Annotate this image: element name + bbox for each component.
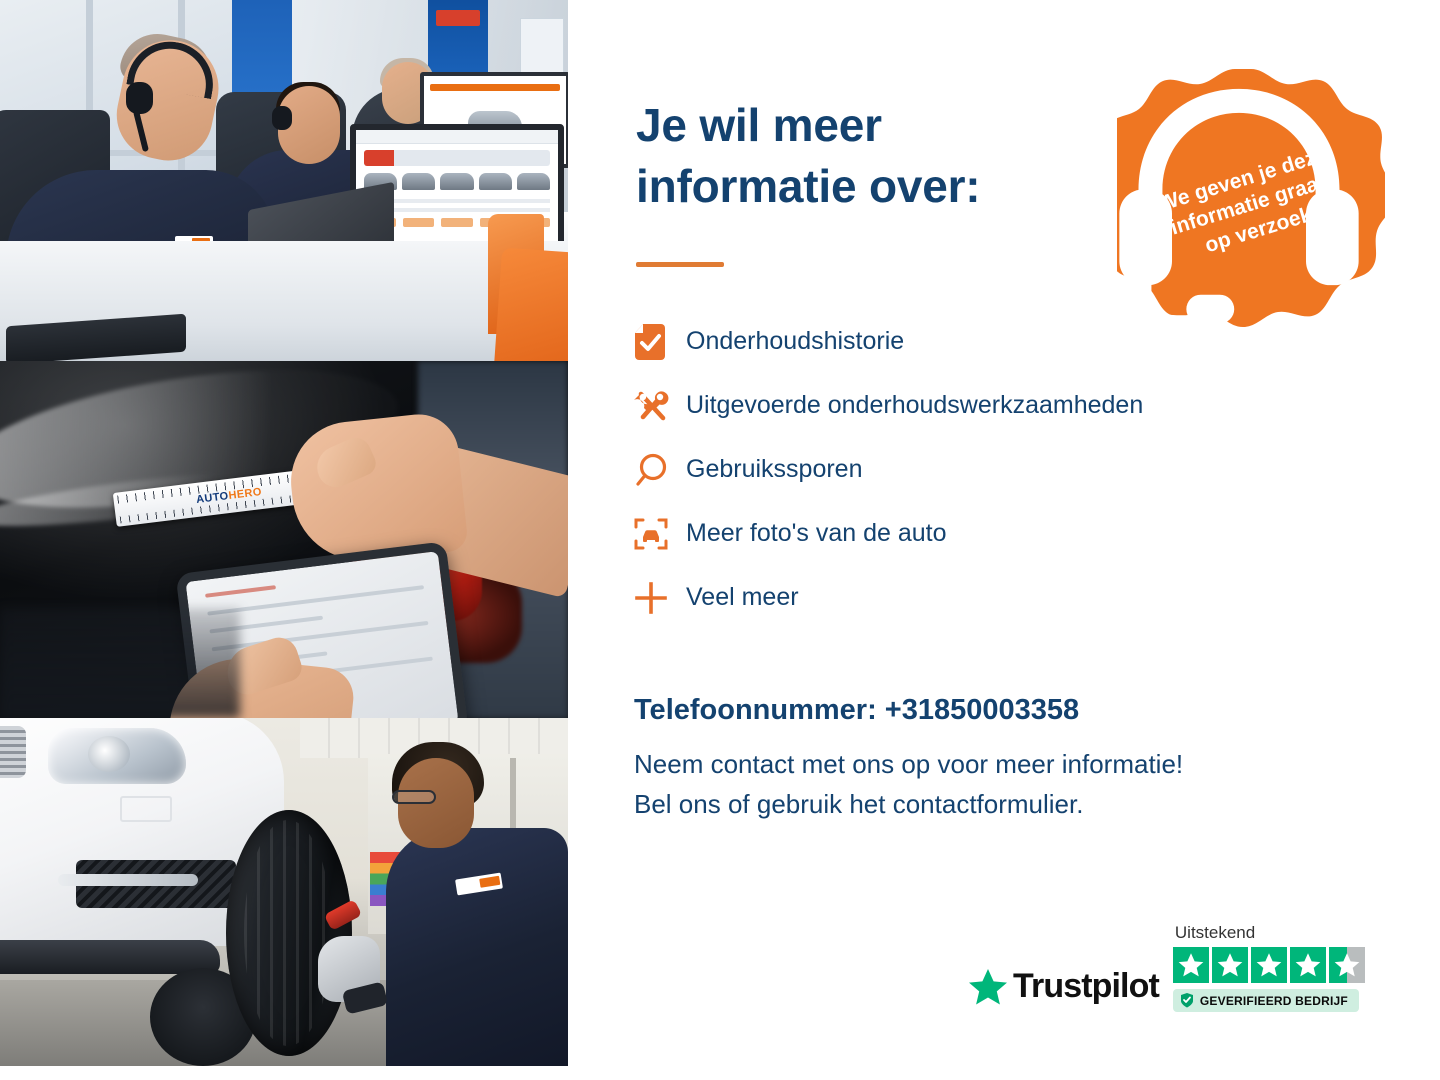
trustpilot-logo: Trustpilot [968,967,1159,1012]
page-title: Je wil meer informatie over: [636,95,1116,216]
car-headlight [48,728,186,784]
contact-text: Neem contact met ons op voor meer inform… [634,744,1374,825]
verified-label: GEVERIFIEERD BEDRIJF [1200,994,1348,1008]
feature-item-more-photos: Meer foto's van de auto [634,502,1334,566]
feature-list: Onderhoudshistorie Uitgevoerd [634,310,1334,630]
callcenter-photo [0,0,568,361]
workshop-tyre-photo [0,718,568,1066]
feature-label: Gebruikssporen [686,456,862,484]
car-grille [0,726,26,778]
poster-strip [436,10,480,26]
site-search-bar [364,150,550,166]
star-filled [1212,947,1248,983]
feature-item-maintenance-work: Uitgevoerde onderhoudswerkzaamheden [634,374,1334,438]
trustpilot-wordmark: Trustpilot [1013,967,1159,1006]
headset-earcup [272,106,292,130]
star-rating [1173,947,1365,983]
headline-line-2: informatie over: [636,160,980,212]
feature-label: Veel meer [686,584,799,612]
star-filled [1251,947,1287,983]
magnifier-icon [634,453,686,487]
feature-item-wear-traces: Gebruikssporen [634,438,1334,502]
licence-plate-recess [120,796,172,822]
document-check-icon [634,324,686,360]
plus-icon [634,581,686,615]
damage-inspection-photo: AUTOHERO [0,361,568,718]
fog-light-trim [58,874,198,886]
contact-line-1: Neem contact met ons op voor meer inform… [634,749,1183,779]
feature-icon [403,218,435,227]
feature-icon [441,218,473,227]
contact-line-2: Bel ons of gebruik het contactformulier. [634,789,1083,819]
trustpilot-star-icon [968,968,1008,1006]
headline-line-1: Je wil meer [636,99,882,151]
tyre [226,810,352,1056]
feature-item-maintenance-history: Onderhoudshistorie [634,310,1334,374]
mechanic-body [386,828,568,1066]
tablet-row [205,585,276,598]
star-filled [1290,947,1326,983]
car-thumbnail [517,173,550,190]
promo-banner: AUTOHERO [0,0,1440,1080]
feature-label: Onderhoudshistorie [686,328,904,356]
tyre-tread [244,820,332,1046]
photo-column-spacer [0,1066,568,1080]
feature-label: Uitgevoerde onderhoudswerkzaamheden [686,392,1143,420]
car-thumbnail [402,173,435,190]
verified-check-icon [1180,993,1194,1008]
browser-chrome [356,130,558,144]
feature-item-much-more: Veel meer [634,566,1334,630]
request-info-badge: We geven je deze informatie graag op ver… [1117,65,1385,333]
title-divider [636,262,724,267]
mechanic-glasses [392,790,436,804]
verified-company-badge: GEVERIFIEERD BEDRIJF [1173,989,1359,1012]
trustpilot-widget[interactable]: Trustpilot Uitstekend [968,923,1365,1012]
rating-label: Uitstekend [1175,923,1255,943]
feature-label: Meer foto's van de auto [686,520,947,548]
car-thumbnail [440,173,473,190]
trustpilot-rating: Uitstekend [1173,923,1365,1012]
phone-number[interactable]: Telefoonnummer: +31850003358 [634,694,1079,727]
car-thumbnail [479,173,512,190]
foreground-blur [0,608,240,718]
photo-column: AUTOHERO [0,0,568,1080]
star-half [1329,947,1365,983]
headset-earcup [126,82,153,114]
car-scan-icon [634,517,686,551]
tools-wrench-screwdriver-icon [634,388,686,424]
orange-chair [494,247,568,361]
content-panel: Je wil meer informatie over: We geven je… [568,0,1440,1080]
monitor-header-bar [430,84,560,91]
car-underbody [0,940,220,974]
star-filled [1173,947,1209,983]
